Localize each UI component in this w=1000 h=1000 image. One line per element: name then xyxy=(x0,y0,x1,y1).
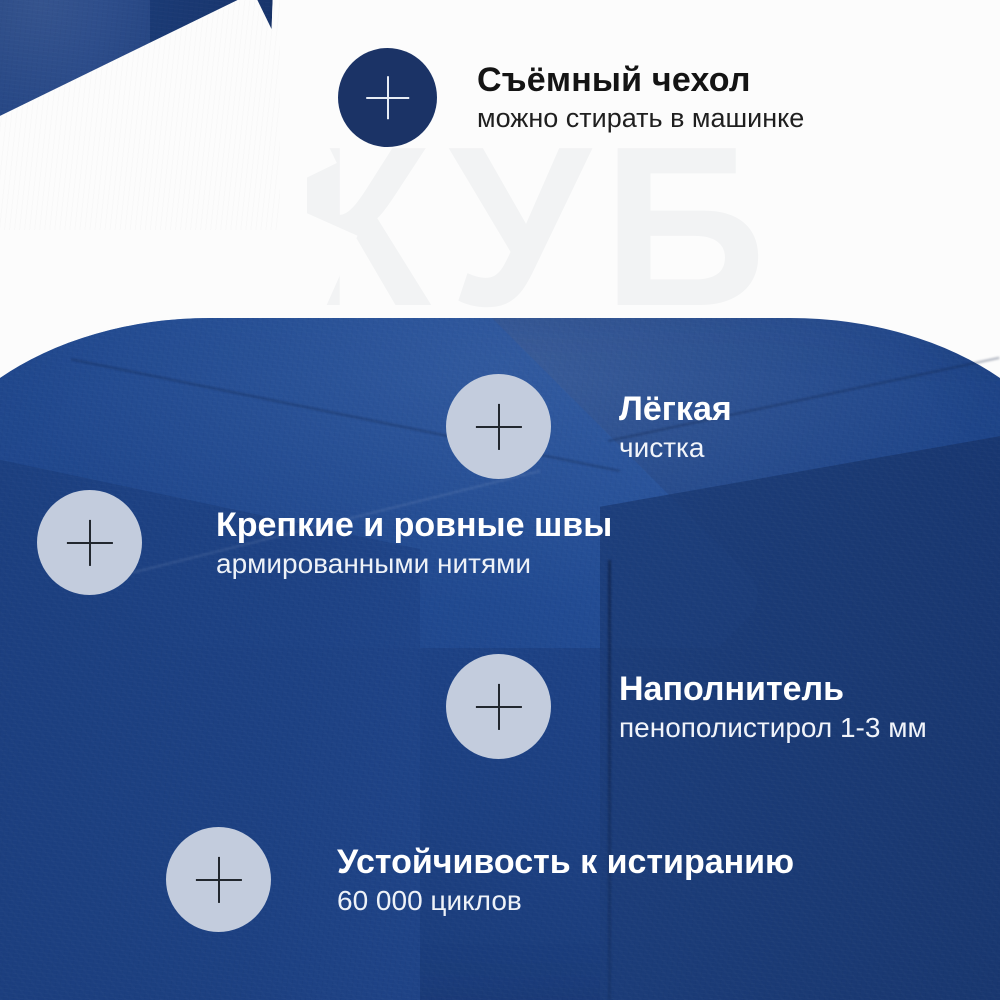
feature-text-block: Съёмный чехол можно стирать в машинке xyxy=(477,61,804,133)
feature-easy-cleaning: Лёгкая чистка xyxy=(446,374,732,479)
infographic-canvas: КУБ Съёмный чехол можно стирать в машинк… xyxy=(0,0,1000,1000)
feature-text-block: Устойчивость к истиранию 60 000 циклов xyxy=(337,843,794,916)
feature-strong-seams: Крепкие и ровные швы армированными нитям… xyxy=(37,490,612,595)
feature-text-block: Крепкие и ровные швы армированными нитям… xyxy=(216,506,612,579)
feature-removable-cover: Съёмный чехол можно стирать в машинке xyxy=(338,48,804,147)
feature-title: Наполнитель xyxy=(619,670,927,708)
feature-subtitle: чистка xyxy=(619,432,732,463)
feature-subtitle: можно стирать в машинке xyxy=(477,103,804,133)
feature-title: Крепкие и ровные швы xyxy=(216,506,612,544)
feature-filler: Наполнитель пенополистирол 1-3 мм xyxy=(446,654,927,759)
feature-subtitle: 60 000 циклов xyxy=(337,885,794,916)
plus-icon[interactable] xyxy=(446,374,551,479)
plus-icon[interactable] xyxy=(446,654,551,759)
feature-title: Устойчивость к истиранию xyxy=(337,843,794,881)
seam-front-corner xyxy=(608,560,611,1000)
plus-icon[interactable] xyxy=(166,827,271,932)
feature-title: Лёгкая xyxy=(619,390,732,428)
feature-text-block: Лёгкая чистка xyxy=(619,390,732,463)
feature-subtitle: армированными нитями xyxy=(216,548,612,579)
feature-subtitle: пенополистирол 1-3 мм xyxy=(619,712,927,743)
feature-abrasion-resistance: Устойчивость к истиранию 60 000 циклов xyxy=(166,827,794,932)
feature-title: Съёмный чехол xyxy=(477,61,804,99)
plus-icon[interactable] xyxy=(338,48,437,147)
feature-text-block: Наполнитель пенополистирол 1-3 мм xyxy=(619,670,927,743)
plus-icon[interactable] xyxy=(37,490,142,595)
